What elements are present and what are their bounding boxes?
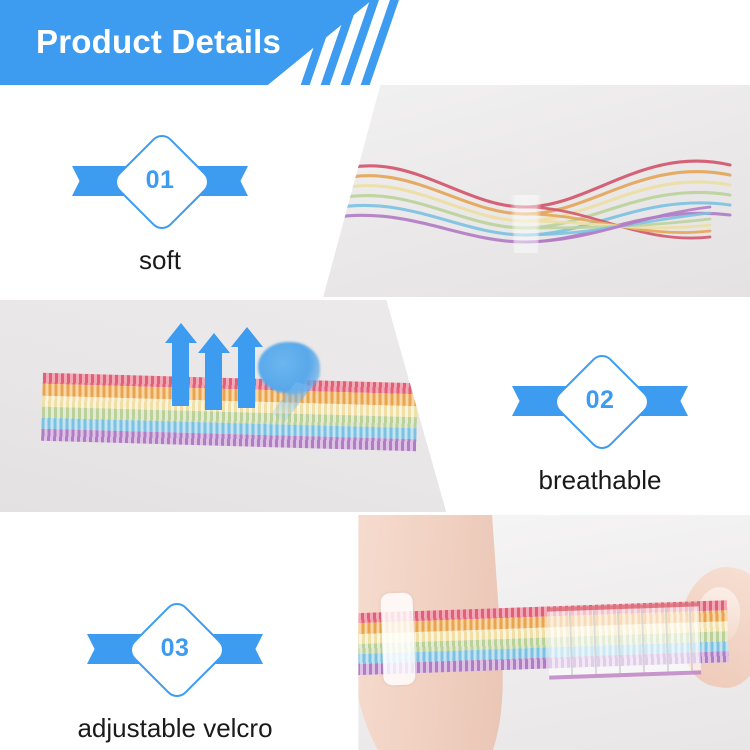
badge-label-velcro: adjustable velcro [25, 713, 325, 744]
badge-01: 01 [102, 122, 218, 238]
photo-velcro [310, 515, 750, 750]
badge-03: 03 [117, 590, 233, 706]
airflow-arrow-icon-3 [238, 342, 255, 408]
page-title: Product Details [36, 21, 281, 63]
airflow-arrow-icon-2 [205, 348, 222, 410]
badge-number: 02 [542, 342, 658, 458]
rainbow-strap-flat [41, 373, 418, 451]
badge-block-breathable: 02 breathable [480, 342, 720, 496]
panel-breathable: 02 breathable [0, 300, 750, 512]
twisted-ribbon-illustration [310, 85, 750, 297]
airflow-arrow-icon-1 [172, 338, 189, 406]
velcro-scene [310, 515, 750, 750]
badge-block-soft: 01 soft [40, 122, 280, 276]
badge-label-breathable: breathable [480, 465, 720, 496]
velcro-loop-section [547, 602, 701, 679]
header: Product Details [0, 0, 750, 85]
badge-02: 02 [542, 342, 658, 458]
badge-number: 01 [102, 122, 218, 238]
velcro-keeper-loop [380, 592, 415, 685]
badge-number: 03 [117, 590, 233, 706]
photo-breathable [0, 300, 460, 512]
panel-velcro: 03 adjustable velcro [0, 515, 750, 750]
photo-twisted-ribbon [310, 85, 750, 297]
badge-label-soft: soft [40, 245, 280, 276]
panel-soft: 01 soft [0, 85, 750, 297]
badge-block-velcro: 03 adjustable velcro [25, 590, 325, 744]
product-details-infographic: Product Details [0, 0, 750, 750]
